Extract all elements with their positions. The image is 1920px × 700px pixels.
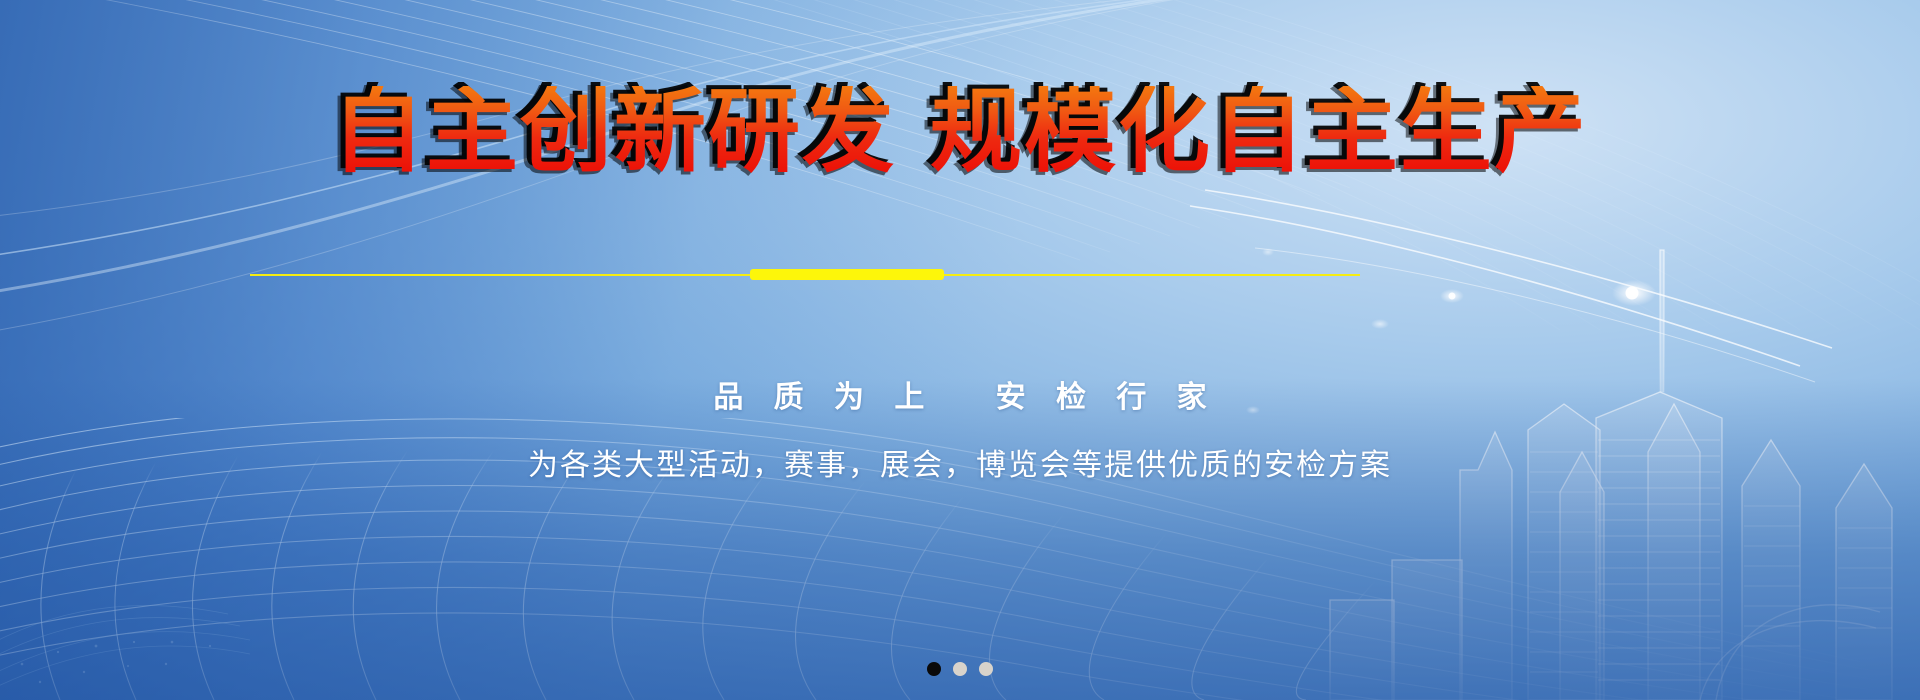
carousel-dot-3[interactable] <box>979 662 993 676</box>
subtitle-primary: 品 质 为 上 安 检 行 家 <box>0 372 1920 416</box>
carousel-indicators <box>0 662 1920 676</box>
page-title: 自主创新研发 规模化自主生产 <box>332 86 1588 178</box>
background-bottom-shade <box>0 378 1920 700</box>
carousel-dot-1[interactable] <box>927 662 941 676</box>
hero-banner: 自主创新研发 规模化自主生产 品 质 为 上 安 检 行 家 为各类大型活动，赛… <box>0 0 1920 700</box>
headline-container: 自主创新研发 规模化自主生产 <box>0 86 1920 178</box>
divider-accent <box>750 269 944 280</box>
carousel-dot-2[interactable] <box>953 662 967 676</box>
subtitle-secondary: 为各类大型活动，赛事，展会，博览会等提供优质的安检方案 <box>0 440 1920 484</box>
divider <box>250 268 1360 282</box>
